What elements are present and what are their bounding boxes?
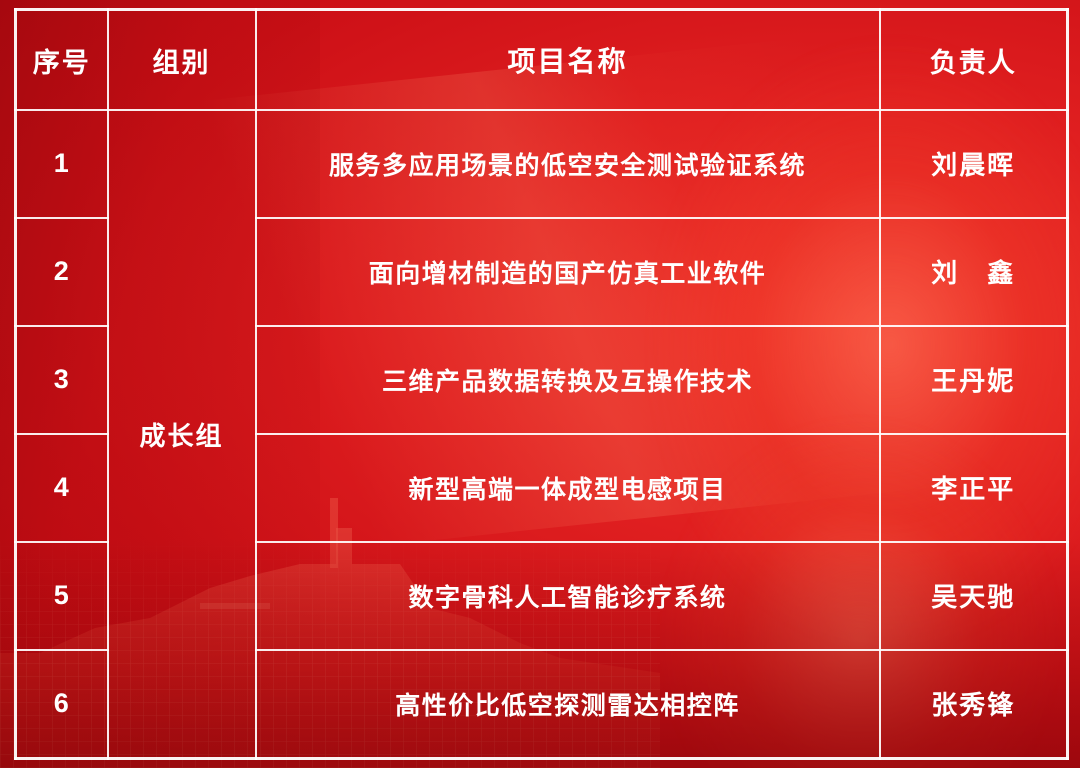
table-row: 1 成长组 服务多应用场景的低空安全测试验证系统 刘晨晖 [16,110,1068,218]
column-header-project: 项目名称 [256,10,880,111]
cell-no-4: 4 [16,434,108,542]
cell-project-5: 数字骨科人工智能诊疗系统 [256,542,880,650]
award-table: 序号 组别 项目名称 负责人 1 成长组 服务多应用场景的低空安全测试验证系统 … [14,8,1069,760]
table-header: 序号 组别 项目名称 负责人 [16,10,1068,111]
cell-no-6: 6 [16,650,108,759]
cell-no-3: 3 [16,326,108,434]
award-table-container: 序号 组别 项目名称 负责人 1 成长组 服务多应用场景的低空安全测试验证系统 … [14,8,1066,760]
cell-owner-1: 刘晨晖 [880,110,1068,218]
cell-no-2: 2 [16,218,108,326]
cell-owner-2: 刘 鑫 [880,218,1068,326]
cell-project-1: 服务多应用场景的低空安全测试验证系统 [256,110,880,218]
cell-owner-4: 李正平 [880,434,1068,542]
cell-project-2: 面向增材制造的国产仿真工业软件 [256,218,880,326]
cell-owner-5: 吴天驰 [880,542,1068,650]
cell-group-label: 成长组 [108,110,256,759]
cell-project-6: 高性价比低空探测雷达相控阵 [256,650,880,759]
cell-owner-3: 王丹妮 [880,326,1068,434]
column-header-group: 组别 [108,10,256,111]
table-body: 1 成长组 服务多应用场景的低空安全测试验证系统 刘晨晖 2 面向增材制造的国产… [16,110,1068,759]
column-header-owner: 负责人 [880,10,1068,111]
column-header-no: 序号 [16,10,108,111]
cell-no-1: 1 [16,110,108,218]
table-header-row: 序号 组别 项目名称 负责人 [16,10,1068,111]
cell-no-5: 5 [16,542,108,650]
cell-owner-6: 张秀锋 [880,650,1068,759]
cell-project-3: 三维产品数据转换及互操作技术 [256,326,880,434]
cell-project-4: 新型高端一体成型电感项目 [256,434,880,542]
poster-canvas: 序号 组别 项目名称 负责人 1 成长组 服务多应用场景的低空安全测试验证系统 … [0,0,1080,768]
